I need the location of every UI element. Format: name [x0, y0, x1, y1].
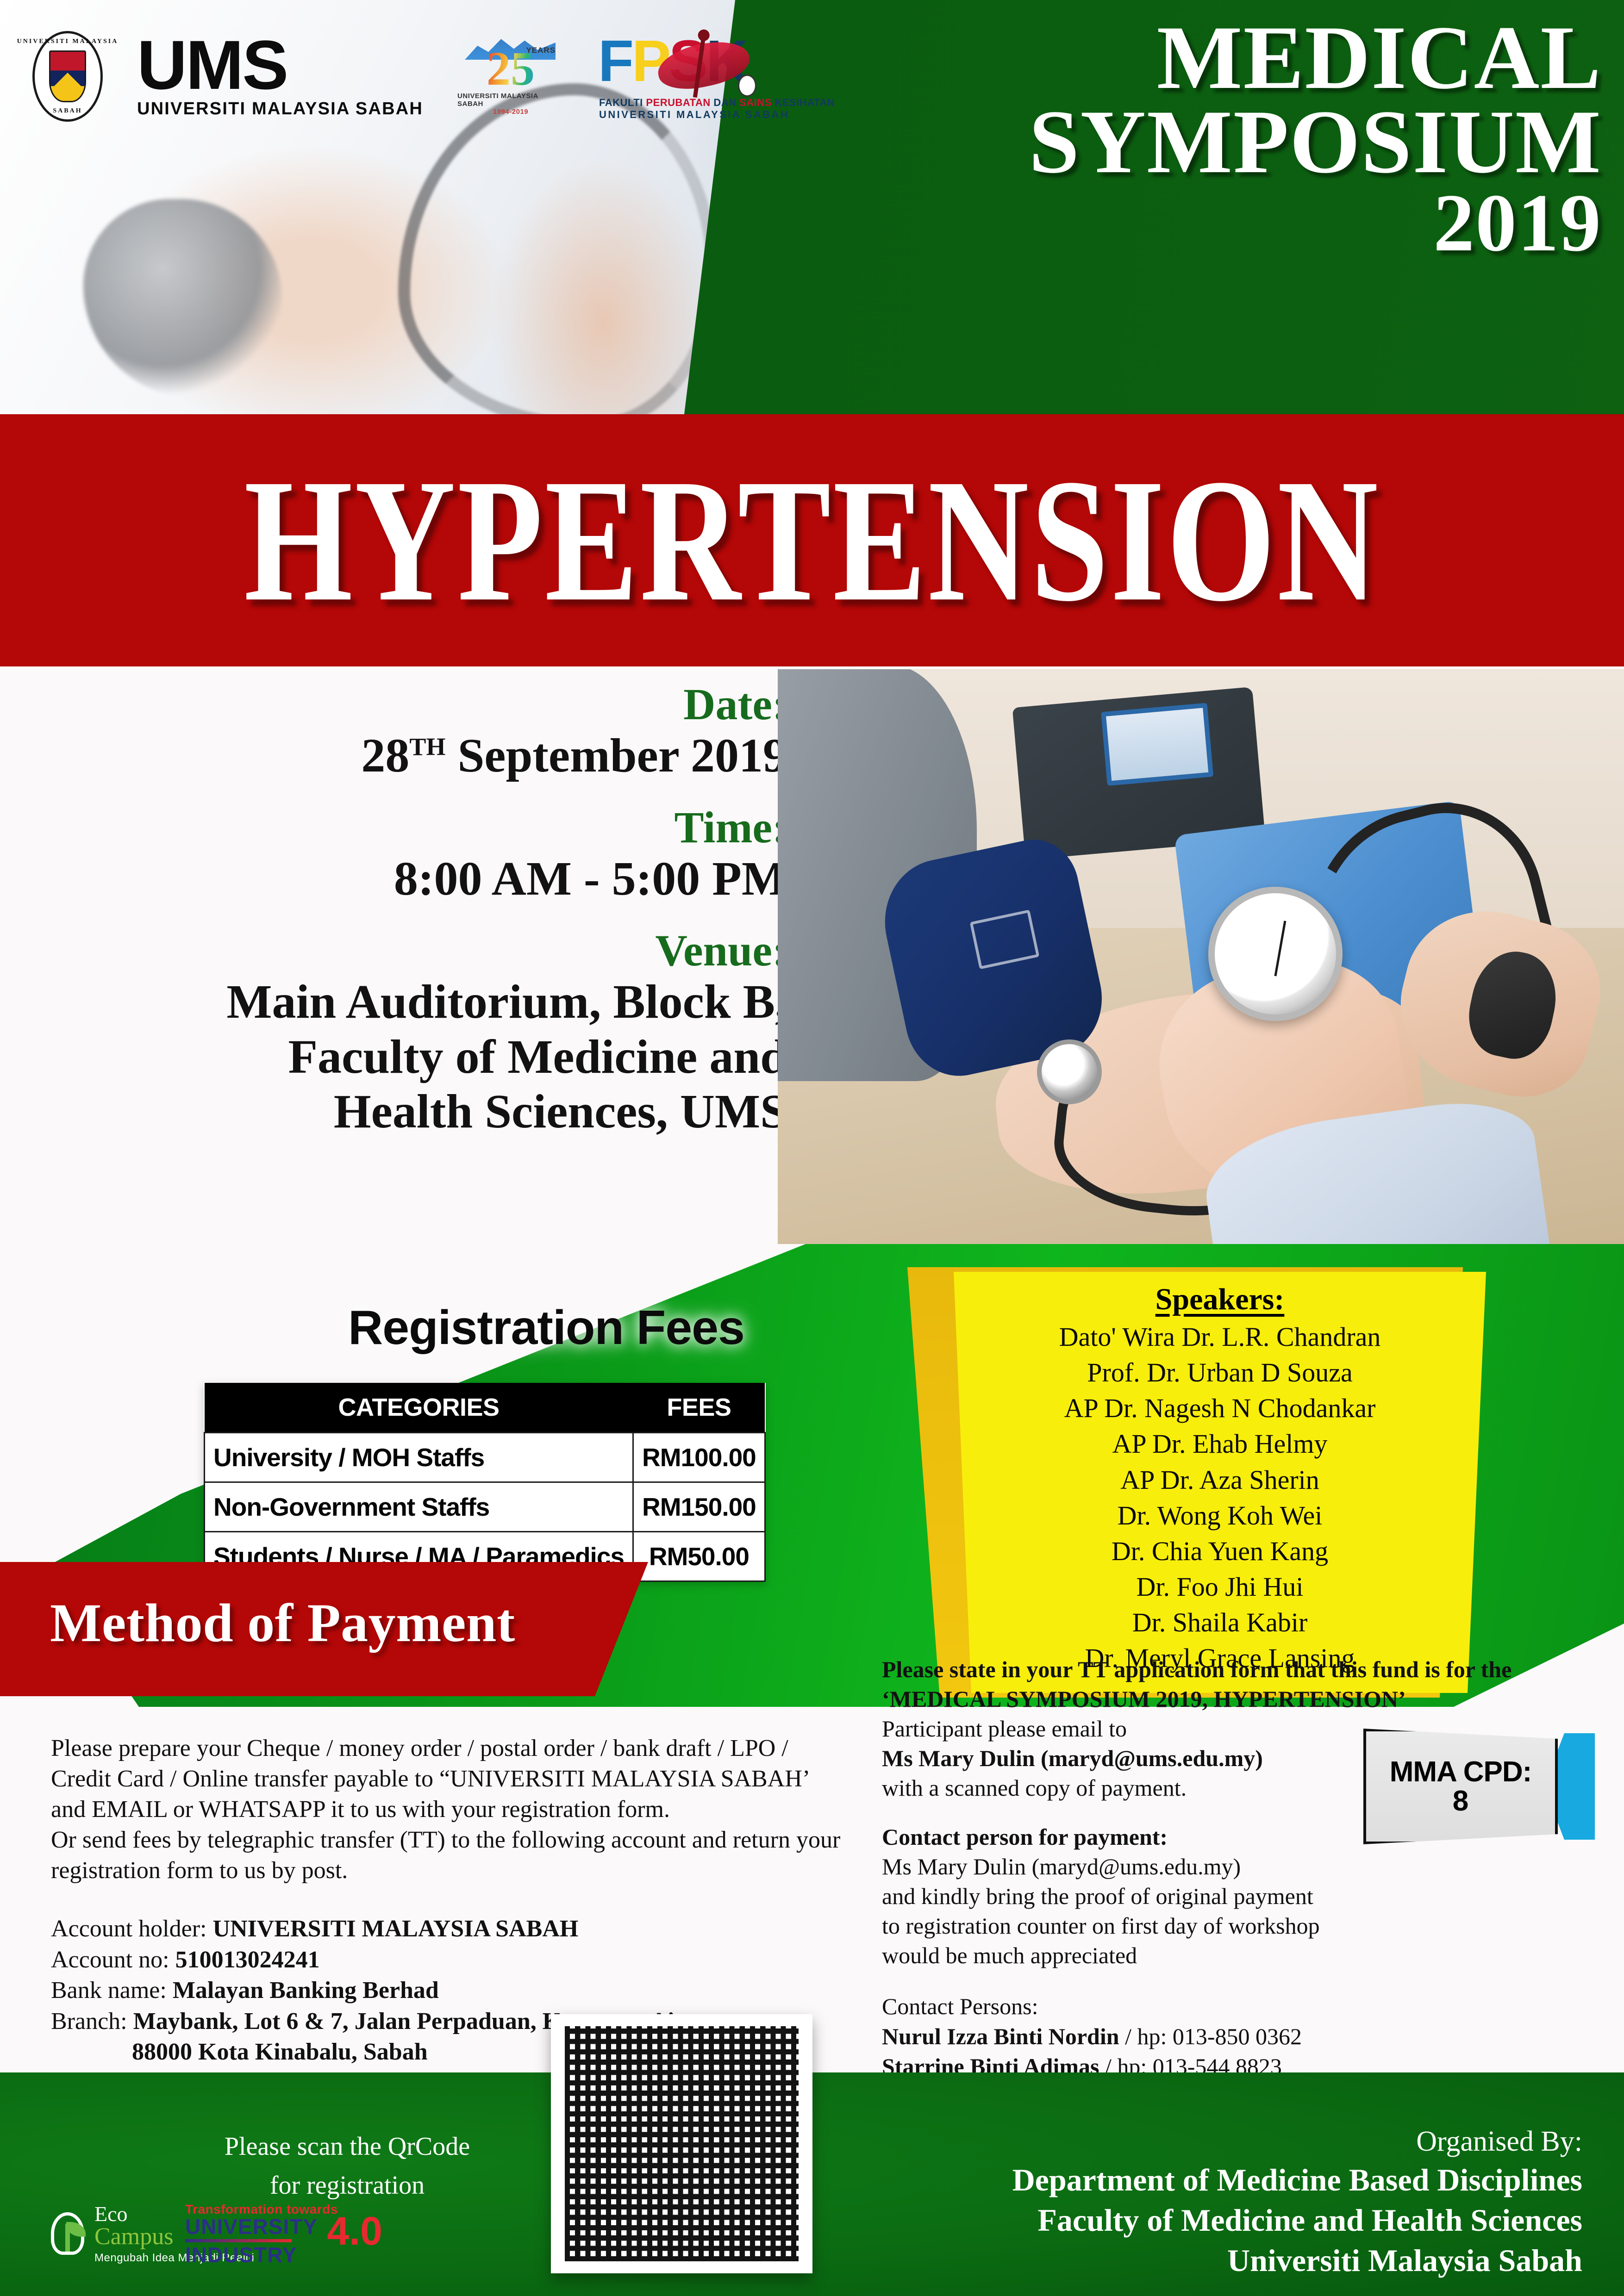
- fpsk-caption-line2: UNIVERSITI MALAYSIA SABAH: [599, 109, 789, 121]
- branch-value-line2: 88000 Kota Kinabalu, Sabah: [132, 2039, 428, 2065]
- qr-code-card[interactable]: [551, 2014, 812, 2273]
- contact-payment-line-3: to registration counter on first day of …: [882, 1911, 1539, 1941]
- fee-header-fees: FEES: [633, 1383, 765, 1433]
- title-line-medical: MEDICAL: [806, 16, 1602, 100]
- qr-instruction-line-1: Please scan the QrCode: [139, 2127, 556, 2166]
- fpsk-cap-dan: DAN: [713, 97, 739, 108]
- fpsk-faculty-logo: FPSK FAKULTI PERUBATAN DAN SAINS KESIHAT…: [598, 30, 783, 123]
- account-holder-label: Account holder:: [51, 1916, 212, 1942]
- ums-crest-logo: UNIVERSITI MALAYSIA SABAH: [32, 31, 103, 122]
- fee-row-category: University / MOH Staffs: [205, 1433, 633, 1482]
- fee-table-header-row: CATEGORIES FEES: [205, 1383, 765, 1433]
- organiser-line-2: Faculty of Medicine and Health Sciences: [832, 2200, 1582, 2240]
- speaker-item: AP Dr. Ehab Helmy: [980, 1426, 1460, 1462]
- mma-cpd-badge: MMA CPD: 8: [1363, 1729, 1595, 1844]
- qr-instruction-line-2: for registration: [139, 2166, 556, 2205]
- ums-wordmark: UMS UNIVERSITI MALAYSIA SABAH: [137, 34, 423, 119]
- date-value: 28TH September 2019: [56, 728, 787, 784]
- payment-instructions-right: Please state in your TT application form…: [882, 1655, 1539, 2082]
- topic-banner: HYPERTENSION: [0, 414, 1624, 666]
- account-no-value: 510013024241: [175, 1947, 320, 1973]
- speaker-item: AP Dr. Aza Sherin: [980, 1462, 1460, 1498]
- speaker-item: Dr. Shaila Kabir: [980, 1605, 1460, 1640]
- speaker-item: Dr. Wong Koh Wei: [980, 1498, 1460, 1533]
- account-holder-row: Account holder: UNIVERSITI MALAYSIA SABA…: [51, 1914, 847, 1945]
- mma-cpd-points: 8: [1453, 1786, 1468, 1816]
- spacer-2: [56, 906, 787, 927]
- fee-row-amount: RM150.00: [633, 1482, 765, 1532]
- bank-name-value: Malayan Banking Berhad: [173, 1977, 439, 2004]
- registration-fees-title: Registration Fees: [222, 1300, 870, 1356]
- organiser-line-1: Department of Medicine Based Disciplines: [832, 2160, 1582, 2200]
- poster-root: UNIVERSITI MALAYSIA SABAH UMS UNIVERSITI…: [0, 0, 1624, 2296]
- contact-payment-line-1: Ms Mary Dulin (maryd@ums.edu.my): [882, 1852, 1539, 1881]
- fee-row-amount: RM100.00: [633, 1433, 765, 1482]
- fpsk-letter-f: F: [598, 28, 632, 93]
- table-row: University / MOH Staffs RM100.00: [205, 1433, 765, 1482]
- contact-persons-title: Contact Persons:: [882, 1991, 1539, 2022]
- fpsk-cap-perubatan: PERUBATAN: [646, 97, 713, 108]
- organised-by-label: Organised By:: [832, 2123, 1582, 2160]
- topic-title: HYPERTENSION: [244, 452, 1380, 628]
- photo-pressure-gauge: [1208, 887, 1343, 1021]
- fpsk-cap-fakulti: FAKULTI: [599, 97, 646, 108]
- tt-application-note: Please state in your TT application form…: [882, 1655, 1539, 1714]
- speaker-item: Dr. Foo Jhi Hui: [980, 1569, 1460, 1605]
- contact-person-1-phone: / hp: 013-850 0362: [1119, 2023, 1302, 2049]
- logo-divider-bar: [185, 2239, 292, 2242]
- fee-header-categories: CATEGORIES: [205, 1383, 633, 1433]
- title-line-year: 2019: [806, 185, 1602, 261]
- contact-payment-line-4: would be much appreciated: [882, 1941, 1539, 1970]
- fpsk-caption-line1: FAKULTI PERUBATAN DAN SAINS KESIHATAN: [599, 97, 835, 109]
- fee-table-head: CATEGORIES FEES: [205, 1383, 765, 1433]
- venue-label: Venue:: [56, 927, 787, 975]
- blood-pressure-photo: [778, 669, 1624, 1244]
- payment-intro-paragraph-2: Or send fees by telegraphic transfer (TT…: [51, 1825, 847, 1886]
- contact-payment-line-2: and kindly bring the proof of original p…: [882, 1881, 1539, 1911]
- table-row: Non-Government Staffs RM150.00: [205, 1482, 765, 1532]
- crest-ring-bottom-label: SABAH: [53, 107, 82, 115]
- ums-wordmark-big: UMS: [137, 34, 423, 96]
- venue-line-1: Main Auditorium, Block B,: [56, 975, 787, 1030]
- fee-row-amount: RM50.00: [633, 1532, 765, 1581]
- organiser-block: Organised By: Department of Medicine Bas…: [832, 2123, 1582, 2281]
- date-month-year: September 2019: [445, 729, 787, 782]
- mma-cpd-label: MMA CPD:: [1390, 1757, 1532, 1786]
- transformation-label: Transformation towards: [185, 2203, 338, 2216]
- version-40-label: 4.0: [327, 2211, 382, 2251]
- date-ordinal: TH: [409, 733, 445, 760]
- branch-label: Branch:: [51, 2008, 133, 2035]
- contact-person-row: Nurul Izza Binti Nordin / hp: 013-850 03…: [882, 2022, 1539, 2052]
- payment-intro-paragraph-1: Please prepare your Cheque / money order…: [51, 1733, 847, 1825]
- logo-row: UNIVERSITI MALAYSIA SABAH UMS UNIVERSITI…: [32, 30, 783, 123]
- poster-header: UNIVERSITI MALAYSIA SABAH UMS UNIVERSITI…: [0, 0, 1624, 414]
- bank-name-row: Bank name: Malayan Banking Berhad: [51, 1975, 847, 2006]
- fee-table-body: University / MOH Staffs RM100.00 Non-Gov…: [205, 1433, 765, 1581]
- bank-name-label: Bank name:: [51, 1977, 173, 2004]
- qr-instruction-text: Please scan the QrCode for registration: [139, 2127, 556, 2205]
- date-day: 28: [361, 729, 409, 782]
- venue-line-2: Faculty of Medicine and: [56, 1030, 787, 1085]
- speaker-item: AP Dr. Nagesh N Chodankar: [980, 1390, 1460, 1426]
- qr-code-icon: [565, 2026, 799, 2261]
- anniversary-25-logo: YEARS 25 UNIVERSITI MALAYSIA SABAH 1994-…: [457, 30, 564, 123]
- fpsk-cap-sains: SAINS: [739, 97, 775, 108]
- poster-title: MEDICAL SYMPOSIUM 2019: [806, 16, 1602, 261]
- contact-person-1-name: Nurul Izza Binti Nordin: [882, 2023, 1119, 2049]
- tt-note-part2: MEDICAL SYMPOSIUM 2019, HYPERTENSION’: [890, 1686, 1406, 1712]
- venue-line-3: Health Sciences, UMS: [56, 1084, 787, 1139]
- ums-wordmark-sub: UNIVERSITI MALAYSIA SABAH: [137, 99, 423, 119]
- method-of-payment-title: Method of Payment: [50, 1592, 515, 1655]
- time-label: Time:: [56, 803, 787, 852]
- speaker-item: Dr. Chia Yuen Kang: [980, 1533, 1460, 1569]
- lightbulb-leaf-icon: [51, 2212, 84, 2255]
- contact-for-payment-block: Contact person for payment: Ms Mary Duli…: [882, 1822, 1539, 1970]
- account-holder-value: UNIVERSITI MALAYSIA SABAH: [212, 1916, 578, 1942]
- university-label: UNIVERSITY: [185, 2216, 338, 2237]
- speakers-panel: Speakers: Dato' Wira Dr. L.R. Chandran P…: [954, 1272, 1486, 1693]
- spacer-1: [56, 783, 787, 803]
- anniversary-number: 25: [487, 46, 535, 92]
- speaker-item: Dato' Wira Dr. L.R. Chandran: [980, 1319, 1460, 1355]
- speaker-item: Prof. Dr. Urban D Souza: [980, 1355, 1460, 1390]
- university-industry-40-logo: Transformation towards UNIVERSITY INDUST…: [185, 2203, 338, 2265]
- contact-payment-heading: Contact person for payment:: [882, 1824, 1168, 1850]
- crest-ring-top-label: UNIVERSITI MALAYSIA: [17, 38, 119, 45]
- fee-row-category: Non-Government Staffs: [205, 1482, 633, 1532]
- industry-label: INDUSTRY: [185, 2244, 338, 2265]
- registration-fees-table: CATEGORIES FEES University / MOH Staffs …: [204, 1383, 766, 1582]
- mary-dulin-email: Ms Mary Dulin (maryd@ums.edu.my): [882, 1745, 1263, 1771]
- fpsk-mini-crest-icon: [738, 75, 756, 97]
- date-label: Date:: [56, 680, 787, 728]
- speakers-title: Speakers:: [980, 1282, 1460, 1317]
- account-no-row: Account no: 510013024241: [51, 1945, 847, 1976]
- crest-shield-icon: [49, 50, 86, 102]
- anniversary-caption-2: 1994-2019: [493, 108, 528, 116]
- account-no-label: Account no:: [51, 1947, 175, 1973]
- organiser-line-3: Universiti Malaysia Sabah: [832, 2240, 1582, 2281]
- contact-persons-block: Contact Persons: Nurul Izza Binti Nordin…: [882, 1991, 1539, 2082]
- event-details: Date: 28TH September 2019 Time: 8:00 AM …: [56, 680, 787, 1139]
- method-of-payment-banner: Method of Payment: [0, 1562, 648, 1696]
- title-line-symposium: SYMPOSIUM: [806, 100, 1602, 184]
- time-value: 8:00 AM - 5:00 PM: [56, 852, 787, 907]
- badge-plate: MMA CPD: 8: [1363, 1729, 1558, 1844]
